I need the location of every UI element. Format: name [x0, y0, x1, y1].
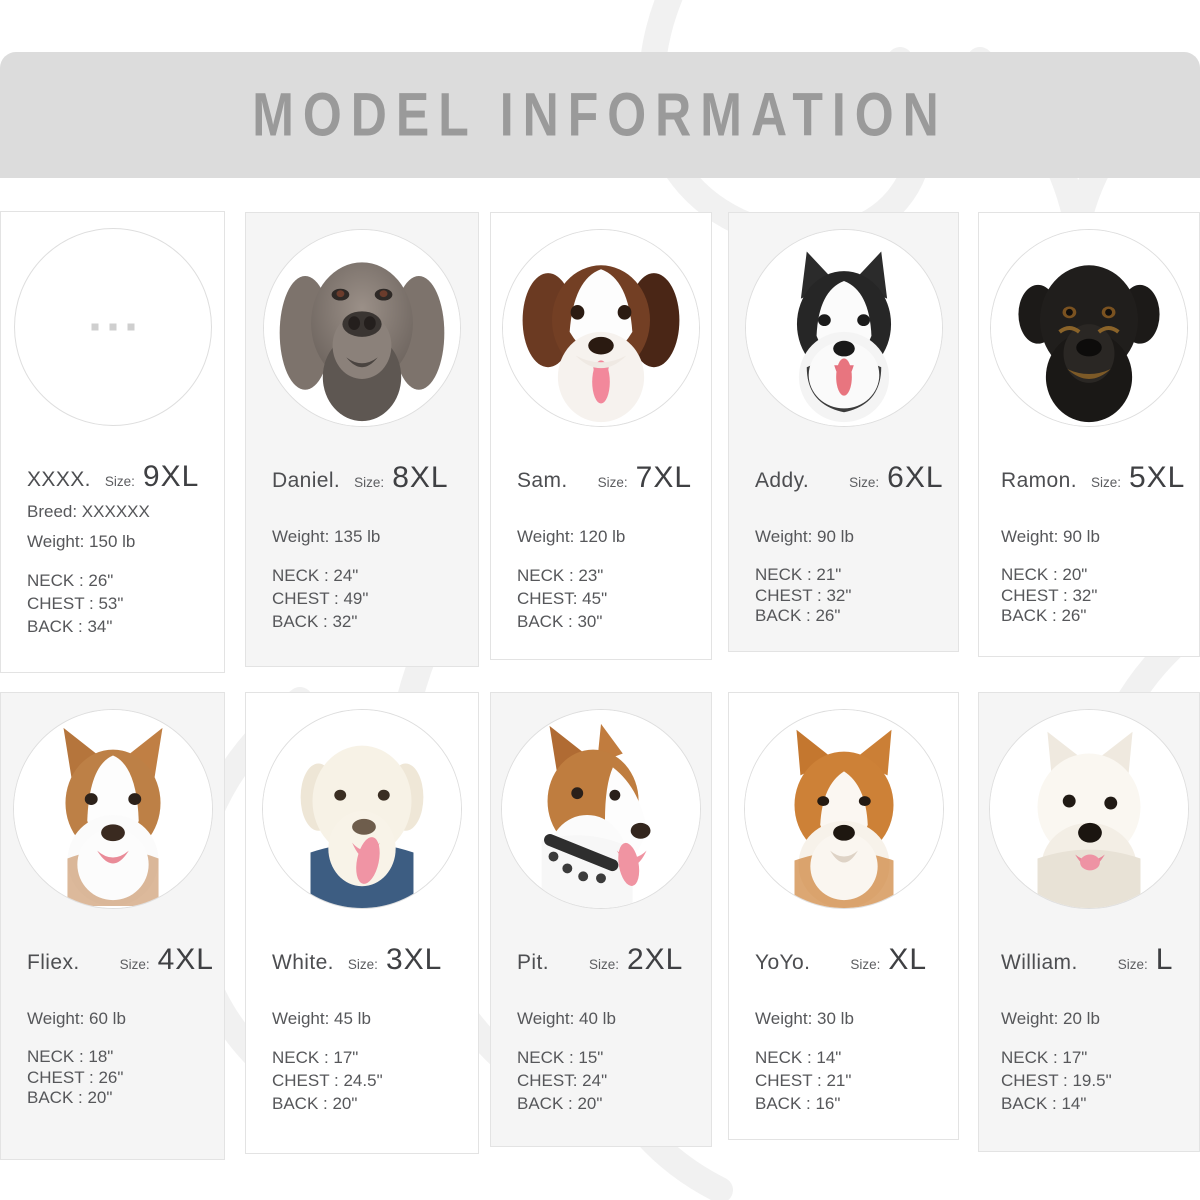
size-label: Size:	[354, 475, 384, 490]
chest-measurement: CHEST : 26"	[27, 1068, 224, 1089]
model-info: XXXX. Size: 9XL Breed: XXXXXX Weight: 15…	[1, 462, 224, 639]
dog-portrait-neapolitan-mastiff	[263, 229, 461, 427]
measurements: NECK : 20" CHEST : 32" BACK : 26"	[1001, 565, 1199, 627]
size-value: 4XL	[158, 945, 214, 975]
model-info: William. Size: L Weight: 20 lb NECK : 17…	[979, 945, 1199, 1116]
back-measurement: BACK : 26"	[755, 606, 958, 627]
size-label: Size:	[120, 957, 150, 972]
model-info: Pit. Size: 2XL Weight: 40 lb NECK : 15" …	[491, 945, 711, 1116]
back-measurement: BACK : 30"	[517, 611, 711, 634]
back-measurement: BACK : 16"	[755, 1093, 958, 1116]
measurements: NECK : 24" CHEST : 49" BACK : 32"	[272, 565, 478, 634]
model-card[interactable]: Daniel. Size: 8XL Weight: 135 lb NECK : …	[245, 212, 479, 667]
dog-portrait-shiba-inu	[744, 709, 944, 909]
chest-measurement: CHEST : 24.5"	[272, 1070, 478, 1093]
size-value: 5XL	[1129, 463, 1185, 493]
pet-name: Fliex.	[27, 951, 80, 975]
model-card[interactable]: White. Size: 3XL Weight: 45 lb NECK : 17…	[245, 692, 479, 1154]
weight-text: Weight: 90 lb	[1001, 527, 1199, 547]
model-info: Addy. Size: 6XL Weight: 90 lb NECK : 21"…	[729, 463, 958, 627]
pet-name: William.	[1001, 951, 1078, 975]
chest-measurement: CHEST: 45"	[517, 588, 711, 611]
model-card[interactable]: Sam. Size: 7XL Weight: 120 lb NECK : 23"…	[490, 212, 712, 660]
model-card[interactable]: Addy. Size: 6XL Weight: 90 lb NECK : 21"…	[728, 212, 959, 652]
size-value: 6XL	[887, 463, 943, 493]
portrait-container	[979, 693, 1199, 909]
neck-measurement: NECK : 24"	[272, 565, 478, 588]
back-measurement: BACK : 20"	[517, 1093, 711, 1116]
chest-measurement: CHEST : 49"	[272, 588, 478, 611]
dog-portrait-american-staffordshire-terrier	[13, 709, 213, 909]
name-row: Daniel. Size: 8XL	[272, 463, 478, 493]
page-title: MODEL INFORMATION	[252, 80, 948, 151]
weight-text: Weight: 60 lb	[27, 1009, 224, 1029]
measurements: NECK : 21" CHEST : 32" BACK : 26"	[755, 565, 958, 627]
pet-name: Daniel.	[272, 469, 340, 493]
model-card-grid: XXXX. Size: 9XL Breed: XXXXXX Weight: 15…	[0, 211, 1200, 692]
dog-portrait-west-highland-white-terrier	[989, 709, 1189, 909]
model-info: YoYo. Size: XL Weight: 30 lb NECK : 14" …	[729, 945, 958, 1116]
weight-text: Weight: 20 lb	[1001, 1009, 1199, 1029]
model-info: Fliex. Size: 4XL Weight: 60 lb NECK : 18…	[1, 945, 224, 1109]
neck-measurement: NECK : 21"	[755, 565, 958, 586]
size-label: Size:	[849, 475, 879, 490]
chest-measurement: CHEST: 24"	[517, 1070, 711, 1093]
weight-text: Weight: 90 lb	[755, 527, 958, 547]
neck-measurement: NECK : 26"	[27, 570, 224, 593]
pet-name: Sam.	[517, 469, 568, 493]
pet-name: Pit.	[517, 951, 549, 975]
measurements: NECK : 17" CHEST : 19.5" BACK : 14"	[1001, 1047, 1199, 1116]
portrait-container	[491, 693, 711, 909]
back-measurement: BACK : 34"	[27, 616, 224, 639]
header-banner: MODEL INFORMATION	[0, 52, 1200, 178]
name-row: White. Size: 3XL	[272, 945, 478, 975]
measurements: NECK : 18" CHEST : 26" BACK : 20"	[27, 1047, 224, 1109]
dog-portrait-rottweiler	[990, 229, 1188, 427]
model-card[interactable]: Fliex. Size: 4XL Weight: 60 lb NECK : 18…	[0, 692, 225, 1160]
name-row: Sam. Size: 7XL	[517, 463, 711, 493]
dog-portrait-labrador-retriever	[262, 709, 462, 909]
portrait-container	[491, 213, 711, 427]
back-measurement: BACK : 26"	[1001, 606, 1199, 627]
name-row: XXXX. Size: 9XL	[27, 462, 224, 492]
model-info: Sam. Size: 7XL Weight: 120 lb NECK : 23"…	[491, 463, 711, 634]
measurements: NECK : 17" CHEST : 24.5" BACK : 20"	[272, 1047, 478, 1116]
size-label: Size:	[1118, 957, 1148, 972]
neck-measurement: NECK : 18"	[27, 1047, 224, 1068]
back-measurement: BACK : 20"	[272, 1093, 478, 1116]
portrait-container	[729, 213, 958, 427]
neck-measurement: NECK : 17"	[272, 1047, 478, 1070]
back-measurement: BACK : 32"	[272, 611, 478, 634]
pet-name: YoYo.	[755, 951, 810, 975]
name-row: Fliex. Size: 4XL	[27, 945, 224, 975]
size-label: Size:	[348, 957, 378, 972]
dog-portrait-saint-bernard	[502, 229, 700, 427]
name-row: YoYo. Size: XL	[755, 945, 958, 975]
measurements: NECK : 15" CHEST: 24" BACK : 20"	[517, 1047, 711, 1116]
breed-text: Breed: XXXXXX	[27, 502, 224, 522]
neck-measurement: NECK : 17"	[1001, 1047, 1199, 1070]
neck-measurement: NECK : 14"	[755, 1047, 958, 1070]
portrait-container	[979, 213, 1199, 427]
portrait-container	[1, 693, 224, 909]
name-row: Addy. Size: 6XL	[755, 463, 958, 493]
chest-measurement: CHEST : 19.5"	[1001, 1070, 1199, 1093]
weight-text: Weight: 150 lb	[27, 532, 224, 552]
model-card[interactable]: XXXX. Size: 9XL Breed: XXXXXX Weight: 15…	[0, 211, 225, 673]
weight-text: Weight: 135 lb	[272, 527, 478, 547]
model-info: Daniel. Size: 8XL Weight: 135 lb NECK : …	[246, 463, 478, 634]
ellipsis-icon	[91, 324, 134, 331]
weight-text: Weight: 120 lb	[517, 527, 711, 547]
name-row: Pit. Size: 2XL	[517, 945, 711, 975]
measurements: NECK : 26" CHEST : 53" BACK : 34"	[27, 570, 224, 639]
portrait-container	[729, 693, 958, 909]
model-card[interactable]: Ramon. Size: 5XL Weight: 90 lb NECK : 20…	[978, 212, 1200, 657]
dog-portrait-bull-terrier	[501, 709, 701, 909]
size-value: 2XL	[627, 945, 683, 975]
weight-text: Weight: 40 lb	[517, 1009, 711, 1029]
model-card[interactable]: Pit. Size: 2XL Weight: 40 lb NECK : 15" …	[490, 692, 712, 1147]
size-value: 9XL	[143, 462, 199, 492]
size-value: 3XL	[386, 945, 442, 975]
back-measurement: BACK : 14"	[1001, 1093, 1199, 1116]
pet-name: Ramon.	[1001, 469, 1077, 493]
neck-measurement: NECK : 23"	[517, 565, 711, 588]
dog-portrait-alaskan-malamute	[745, 229, 943, 427]
measurements: NECK : 23" CHEST: 45" BACK : 30"	[517, 565, 711, 634]
model-information-page: MODEL INFORMATION XXXX. Size: 9XL Br	[0, 0, 1200, 1200]
size-value: XL	[888, 945, 927, 975]
chest-measurement: CHEST : 32"	[755, 586, 958, 607]
size-label: Size:	[589, 957, 619, 972]
model-info: Ramon. Size: 5XL Weight: 90 lb NECK : 20…	[979, 463, 1199, 627]
chest-measurement: CHEST : 32"	[1001, 586, 1199, 607]
pet-name: White.	[272, 951, 334, 975]
size-value: 7XL	[636, 463, 692, 493]
size-label: Size:	[105, 474, 135, 489]
portrait-container	[246, 213, 478, 427]
model-card[interactable]: YoYo. Size: XL Weight: 30 lb NECK : 14" …	[728, 692, 959, 1140]
chest-measurement: CHEST : 21"	[755, 1070, 958, 1093]
chest-measurement: CHEST : 53"	[27, 593, 224, 616]
name-row: Ramon. Size: 5XL	[1001, 463, 1199, 493]
measurements: NECK : 14" CHEST : 21" BACK : 16"	[755, 1047, 958, 1116]
model-info: White. Size: 3XL Weight: 45 lb NECK : 17…	[246, 945, 478, 1116]
size-label: Size:	[598, 475, 628, 490]
model-row-top: XXXX. Size: 9XL Breed: XXXXXX Weight: 15…	[0, 211, 1200, 692]
model-card[interactable]: William. Size: L Weight: 20 lb NECK : 17…	[978, 692, 1200, 1152]
size-value: L	[1156, 945, 1174, 975]
size-value: 8XL	[392, 463, 448, 493]
pet-name: Addy.	[755, 469, 809, 493]
portrait-placeholder	[14, 228, 212, 426]
size-label: Size:	[1091, 475, 1121, 490]
pet-name: XXXX.	[27, 468, 91, 492]
neck-measurement: NECK : 20"	[1001, 565, 1199, 586]
weight-text: Weight: 45 lb	[272, 1009, 478, 1029]
portrait-container	[1, 212, 224, 426]
back-measurement: BACK : 20"	[27, 1088, 224, 1109]
portrait-container	[246, 693, 478, 909]
name-row: William. Size: L	[1001, 945, 1199, 975]
weight-text: Weight: 30 lb	[755, 1009, 958, 1029]
model-row-bottom: Fliex. Size: 4XL Weight: 60 lb NECK : 18…	[0, 692, 1200, 1162]
neck-measurement: NECK : 15"	[517, 1047, 711, 1070]
size-label: Size:	[850, 957, 880, 972]
